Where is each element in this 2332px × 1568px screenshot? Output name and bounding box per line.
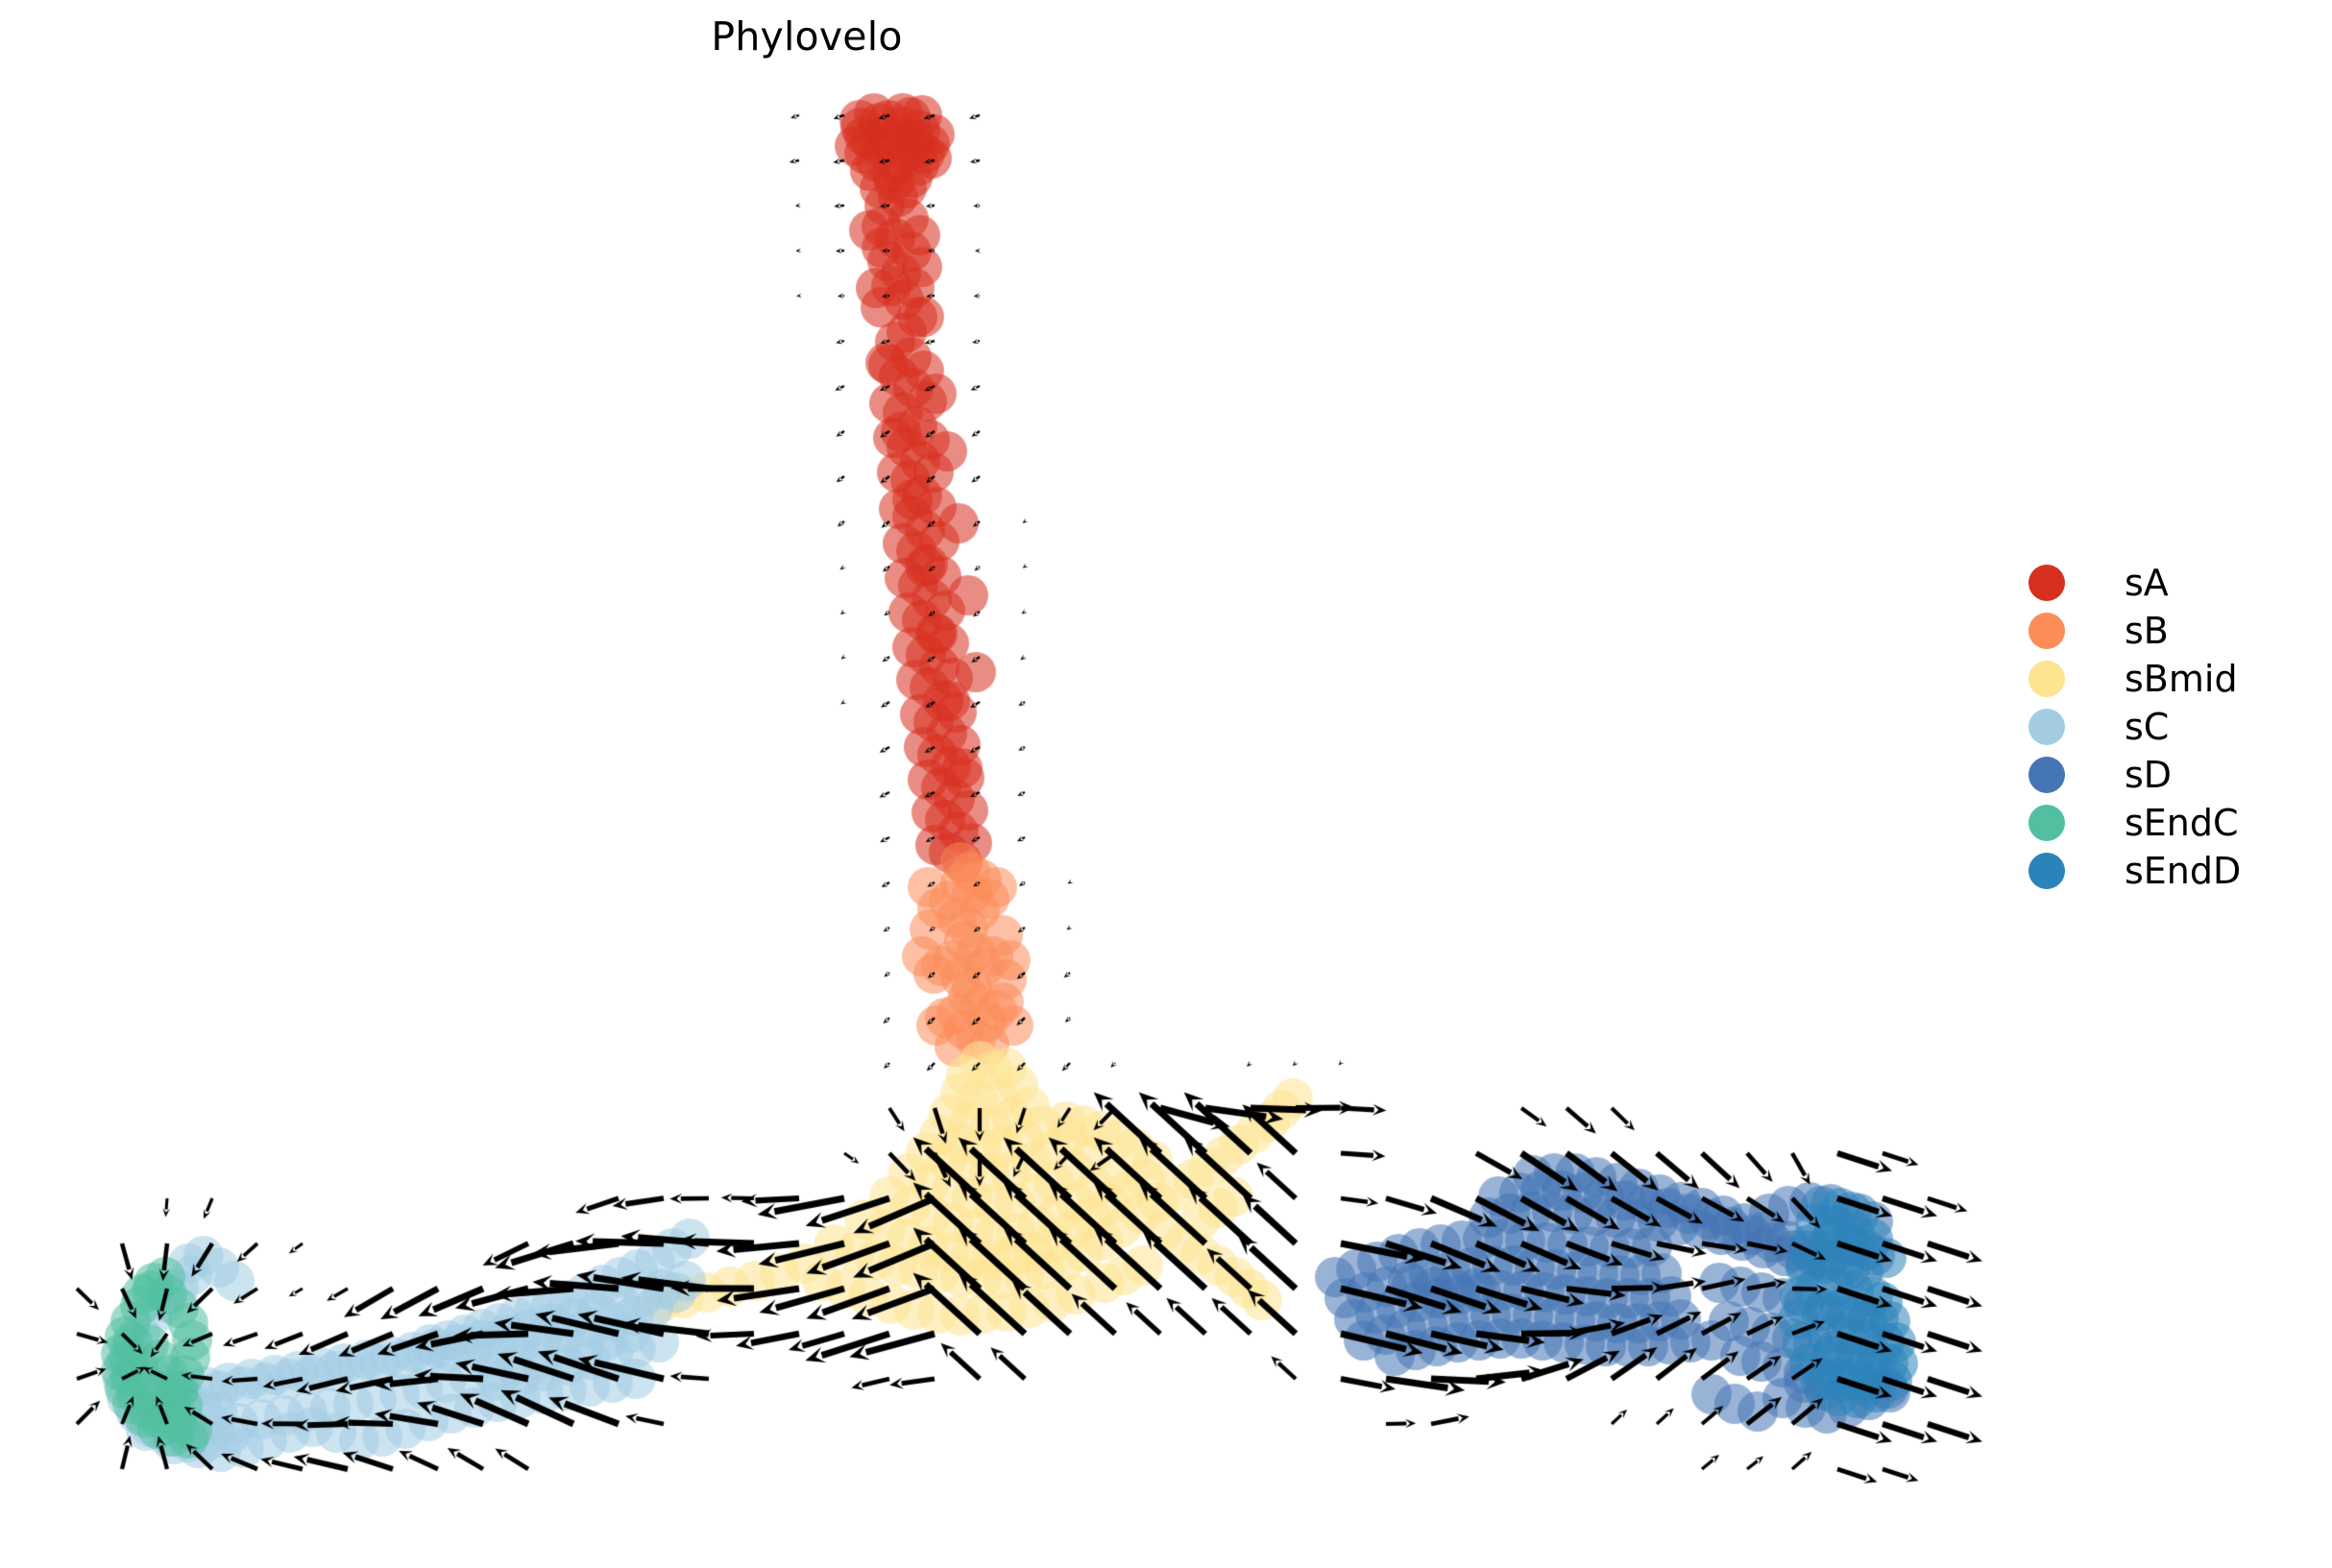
legend-item-sb[interactable]: sB <box>2028 607 2317 655</box>
legend-item-label: sC <box>2125 709 2169 745</box>
velocity-arrow-field <box>0 0 2332 1568</box>
legend: sAsBsBmidsCsDsEndCsEndD <box>2028 559 2317 895</box>
legend-swatch-icon <box>2028 853 2065 889</box>
legend-swatch-icon <box>2028 709 2065 745</box>
legend-item-sc[interactable]: sC <box>2028 703 2317 751</box>
legend-swatch-icon <box>2028 805 2065 841</box>
legend-swatch-icon <box>2028 661 2065 697</box>
legend-item-sbmid[interactable]: sBmid <box>2028 655 2317 703</box>
legend-item-label: sA <box>2125 565 2169 601</box>
legend-swatch-icon <box>2028 613 2065 649</box>
legend-item-label: sB <box>2125 613 2169 649</box>
legend-item-sendc[interactable]: sEndC <box>2028 799 2317 847</box>
legend-item-label: sEndD <box>2125 853 2241 889</box>
phylovelo-figure: Phylovelo sAsBsBmidsCsDsEndCsEndD <box>0 0 2332 1568</box>
legend-swatch-icon <box>2028 565 2065 601</box>
legend-item-sa[interactable]: sA <box>2028 559 2317 607</box>
legend-swatch-icon <box>2028 757 2065 793</box>
legend-item-label: sEndC <box>2125 805 2239 841</box>
legend-item-label: sBmid <box>2125 661 2238 697</box>
legend-item-sd[interactable]: sD <box>2028 751 2317 799</box>
legend-item-sendd[interactable]: sEndD <box>2028 847 2317 895</box>
legend-item-label: sD <box>2125 757 2172 793</box>
